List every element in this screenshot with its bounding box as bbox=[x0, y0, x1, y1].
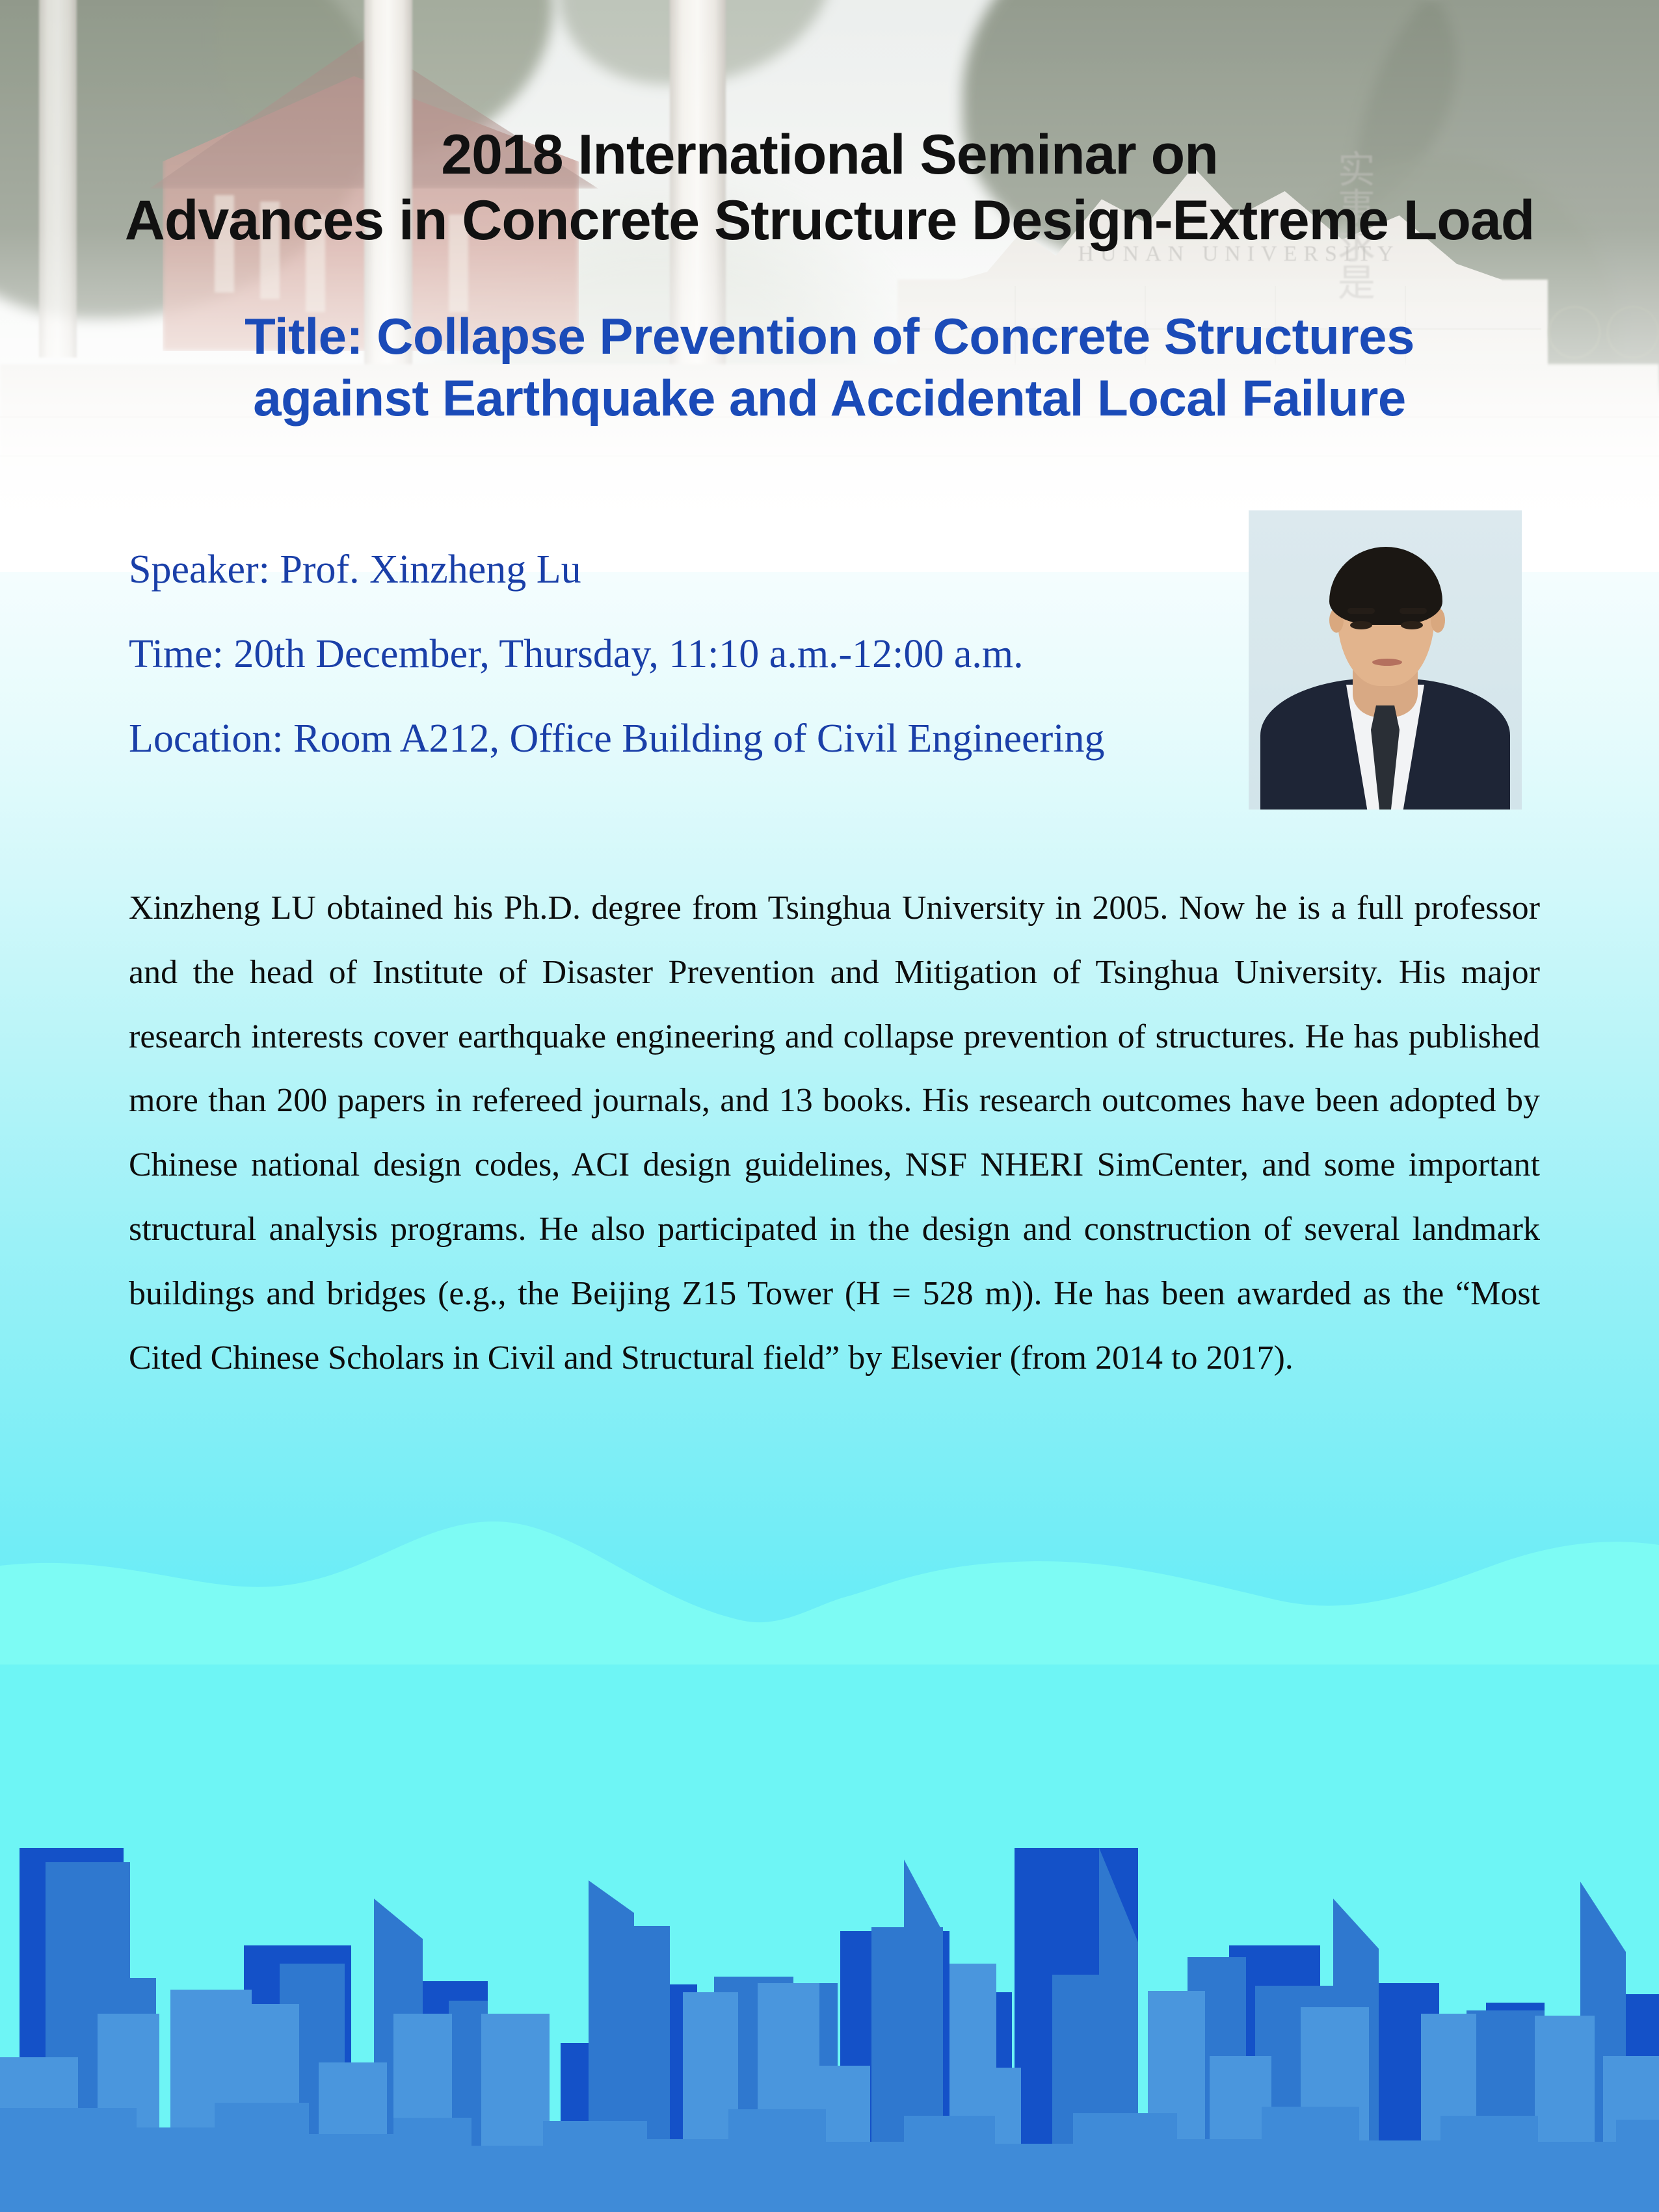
city-skyline-graphic bbox=[0, 1848, 1659, 2212]
portrait-eyebrow bbox=[1347, 608, 1375, 614]
talk-title-line-1: Title: Collapse Prevention of Concrete S… bbox=[0, 306, 1659, 367]
detail-time: Time: 20th December, Thursday, 11:10 a.m… bbox=[129, 634, 1234, 674]
header-background-photo: 实事求是 HUNAN UNIVERSITY bbox=[0, 0, 1659, 572]
event-title-line-1: 2018 International Seminar on bbox=[0, 122, 1659, 188]
speaker-biography: Xinzheng LU obtained his Ph.D. degree fr… bbox=[129, 876, 1540, 1390]
event-title-line-2: Advances in Concrete Structure Design-Ex… bbox=[0, 188, 1659, 254]
photo-bottom-fade bbox=[0, 0, 1659, 572]
wave-shape bbox=[0, 1521, 1659, 1684]
talk-title-line-2: against Earthquake and Accidental Local … bbox=[0, 367, 1659, 429]
portrait-eyebrow bbox=[1400, 608, 1427, 614]
talk-title: Title: Collapse Prevention of Concrete S… bbox=[0, 306, 1659, 429]
wave-divider bbox=[0, 1515, 1659, 1684]
portrait-mouth bbox=[1372, 659, 1402, 666]
speaker-portrait-photo bbox=[1249, 510, 1522, 810]
portrait-eye bbox=[1350, 621, 1372, 629]
detail-speaker: Speaker: Prof. Xinzheng Lu bbox=[129, 549, 1234, 590]
event-title: 2018 International Seminar on Advances i… bbox=[0, 122, 1659, 254]
event-details: Speaker: Prof. Xinzheng Lu Time: 20th De… bbox=[129, 549, 1234, 803]
poster-canvas: 实事求是 HUNAN UNIVERSITY 2018 International… bbox=[0, 0, 1659, 2212]
portrait-eye bbox=[1401, 621, 1423, 629]
detail-location: Location: Room A212, Office Building of … bbox=[129, 718, 1234, 759]
